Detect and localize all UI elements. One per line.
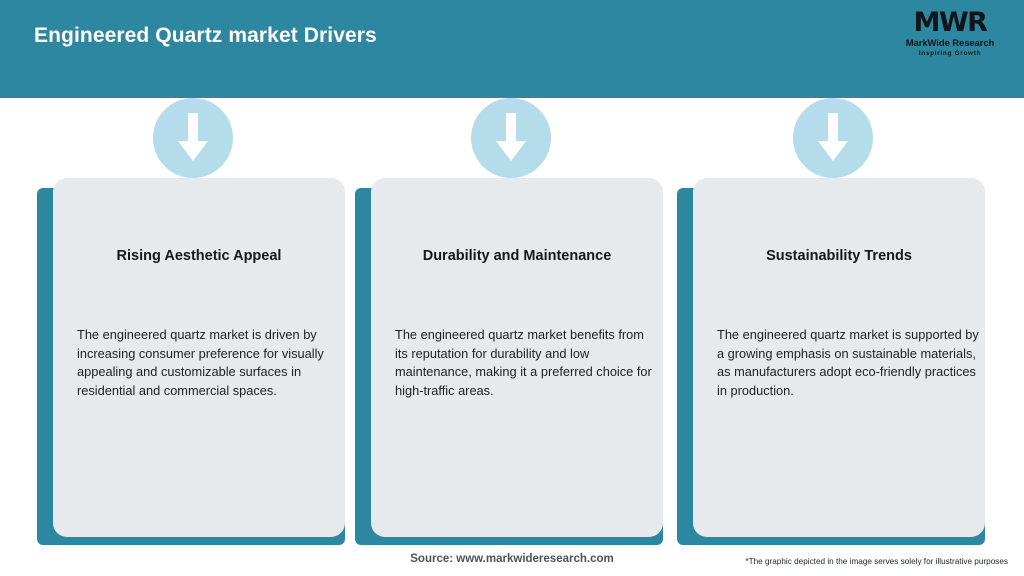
markwide-research-logo: MWR MarkWide Research Inspiring Growth bbox=[898, 8, 1002, 66]
card-title: Sustainability Trends bbox=[693, 248, 985, 264]
driver-card: Rising Aesthetic Appeal The engineered q… bbox=[37, 98, 345, 538]
logo-company-name: MarkWide Research bbox=[898, 38, 1002, 49]
card-title: Durability and Maintenance bbox=[371, 248, 663, 264]
down-arrow-icon bbox=[153, 98, 233, 178]
card-description: The engineered quartz market is supporte… bbox=[717, 326, 979, 400]
header-bar: Engineered Quartz market Drivers MWR Mar… bbox=[0, 0, 1024, 98]
down-arrow-icon bbox=[471, 98, 551, 178]
card-title: Rising Aesthetic Appeal bbox=[53, 248, 345, 264]
down-arrow-icon bbox=[793, 98, 873, 178]
driver-card: Sustainability Trends The engineered qua… bbox=[677, 98, 985, 538]
logo-monogram: MWR bbox=[898, 8, 1002, 38]
disclaimer-note: *The graphic depicted in the image serve… bbox=[745, 557, 1008, 566]
driver-card: Durability and Maintenance The engineere… bbox=[355, 98, 663, 538]
logo-tagline: Inspiring Growth bbox=[898, 49, 1002, 58]
page-title: Engineered Quartz market Drivers bbox=[34, 24, 377, 48]
card-description: The engineered quartz market is driven b… bbox=[77, 326, 339, 400]
driver-cards-container: Rising Aesthetic Appeal The engineered q… bbox=[0, 98, 1024, 538]
card-description: The engineered quartz market benefits fr… bbox=[395, 326, 657, 400]
